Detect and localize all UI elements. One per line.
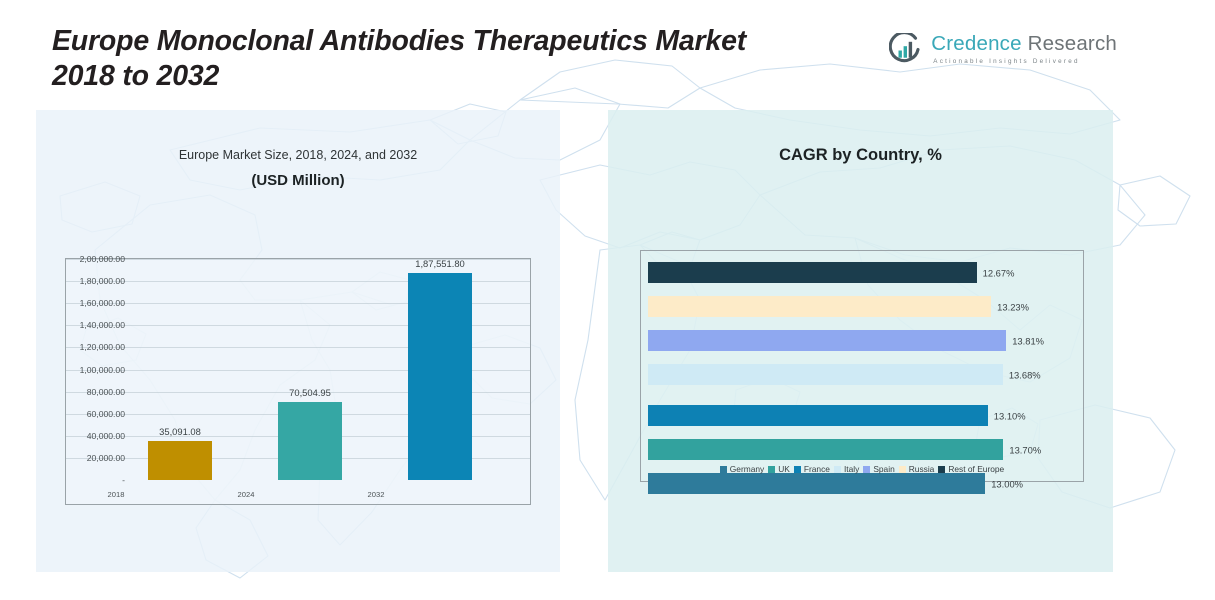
bar (648, 439, 1003, 460)
bar-group: 35,091.08 (148, 259, 212, 480)
bar-row: 13.23% (648, 296, 1076, 317)
bar-value-label: 13.23% (997, 301, 1029, 312)
bar (648, 473, 985, 494)
legend-item: France (794, 464, 830, 474)
market-size-chart-subtitle: (USD Million) (36, 172, 560, 189)
x-axis-tick-label: 2032 (344, 490, 408, 499)
bar (648, 262, 977, 283)
y-axis-tick-label: 60,000.00 (87, 409, 125, 419)
bar-row: 13.10% (648, 405, 1076, 426)
bar-value-label: 13.68% (1009, 369, 1041, 380)
y-axis-tick-label: 1,80,000.00 (80, 276, 125, 286)
legend-swatch (834, 466, 841, 473)
infographic-canvas: Europe Monoclonal Antibodies Therapeutic… (0, 0, 1215, 600)
bar-value-label: 13.70% (1009, 444, 1041, 455)
cagr-chart-title: CAGR by Country, % (608, 146, 1113, 165)
market-size-bars: 35,091.0870,504.951,87,551.80 (130, 259, 522, 480)
y-axis-tick-label: 1,00,000.00 (80, 365, 125, 375)
legend-label: Russia (909, 464, 935, 474)
brand-logo-text: Credence Research Actionable Insights De… (931, 34, 1117, 65)
legend-item: Russia (899, 464, 935, 474)
y-axis-tick-label: 20,000.00 (87, 453, 125, 463)
legend-swatch (863, 466, 870, 473)
bar-row: 13.81% (648, 330, 1076, 351)
brand-name: Credence Research (931, 34, 1117, 55)
bar-chart-circle-icon (889, 33, 922, 66)
cagr-plot-area: 12.67%13.23%13.81%13.68%13.10%13.70%13.0… (640, 250, 1084, 482)
legend-item: Italy (834, 464, 859, 474)
bar-value-label: 13.81% (1012, 335, 1044, 346)
legend-label: Rest of Europe (948, 464, 1004, 474)
legend-swatch (768, 466, 775, 473)
bar-value-label: 1,87,551.80 (415, 258, 465, 269)
legend-swatch (938, 466, 945, 473)
page-title-line-2: 2018 to 2032 (52, 60, 219, 92)
y-axis-tick-label: 1,60,000.00 (80, 298, 125, 308)
legend-swatch (794, 466, 801, 473)
bar-value-label: 70,504.95 (289, 387, 331, 398)
bar (648, 330, 1006, 351)
bar-value-label: 12.67% (983, 267, 1015, 278)
bar-value-label: 35,091.08 (159, 426, 201, 437)
bar-value-label: 13.10% (994, 410, 1026, 421)
legend-label: France (804, 464, 830, 474)
bar (648, 405, 988, 426)
page-title-line-1: Europe Monoclonal Antibodies Therapeutic… (52, 25, 746, 57)
legend-label: UK (778, 464, 790, 474)
legend-label: Germany (730, 464, 764, 474)
brand-logo: Credence Research Actionable Insights De… (889, 33, 1117, 66)
bar (148, 441, 212, 480)
market-size-panel: Europe Market Size, 2018, 2024, and 2032… (36, 110, 560, 572)
bar-row: 13.68% (648, 364, 1076, 385)
brand-name-primary: Credence (931, 32, 1022, 55)
legend-swatch (899, 466, 906, 473)
x-axis-tick-label: 2024 (214, 490, 278, 499)
legend-item: Rest of Europe (938, 464, 1004, 474)
brand-tagline: Actionable Insights Delivered (933, 59, 1117, 65)
page-title: Europe Monoclonal Antibodies Therapeutic… (52, 24, 882, 94)
y-axis-tick-label: 40,000.00 (87, 431, 125, 441)
legend-item: Germany (720, 464, 764, 474)
x-axis-tick-label: 2018 (84, 490, 148, 499)
market-size-plot-area: -20,000.0040,000.0060,000.0080,000.001,0… (65, 258, 531, 505)
y-axis-tick-label: 1,40,000.00 (80, 320, 125, 330)
cagr-bars: 12.67%13.23%13.81%13.68%13.10%13.70%13.0… (648, 259, 1076, 449)
bar-value-label: 13.00% (991, 478, 1023, 489)
market-size-chart-title: Europe Market Size, 2018, 2024, and 2032 (36, 148, 560, 162)
y-axis-tick-label: - (122, 475, 125, 485)
bar-row: 13.70% (648, 439, 1076, 460)
y-axis-tick-label: 2,00,000.00 (80, 254, 125, 264)
header: Europe Monoclonal Antibodies Therapeutic… (0, 0, 1215, 108)
legend-item: Spain (863, 464, 894, 474)
bar (278, 402, 342, 480)
brand-name-secondary: Research (1028, 32, 1117, 55)
legend-label: Italy (844, 464, 859, 474)
bar-group: 70,504.95 (278, 259, 342, 480)
market-size-y-axis: -20,000.0040,000.0060,000.0080,000.001,0… (65, 259, 129, 504)
cagr-legend: GermanyUKFranceItalySpainRussiaRest of E… (641, 464, 1083, 474)
bar-row: 12.67% (648, 262, 1076, 283)
legend-label: Spain (873, 464, 894, 474)
y-axis-tick-label: 1,20,000.00 (80, 342, 125, 352)
cagr-panel: CAGR by Country, % 12.67%13.23%13.81%13.… (608, 110, 1113, 572)
legend-swatch (720, 466, 727, 473)
y-axis-tick-label: 80,000.00 (87, 387, 125, 397)
legend-item: UK (768, 464, 790, 474)
bar (648, 296, 991, 317)
bar-group: 1,87,551.80 (408, 259, 472, 480)
bar (648, 364, 1003, 385)
bar (408, 273, 472, 480)
bar-row: 13.00% (648, 473, 1076, 494)
